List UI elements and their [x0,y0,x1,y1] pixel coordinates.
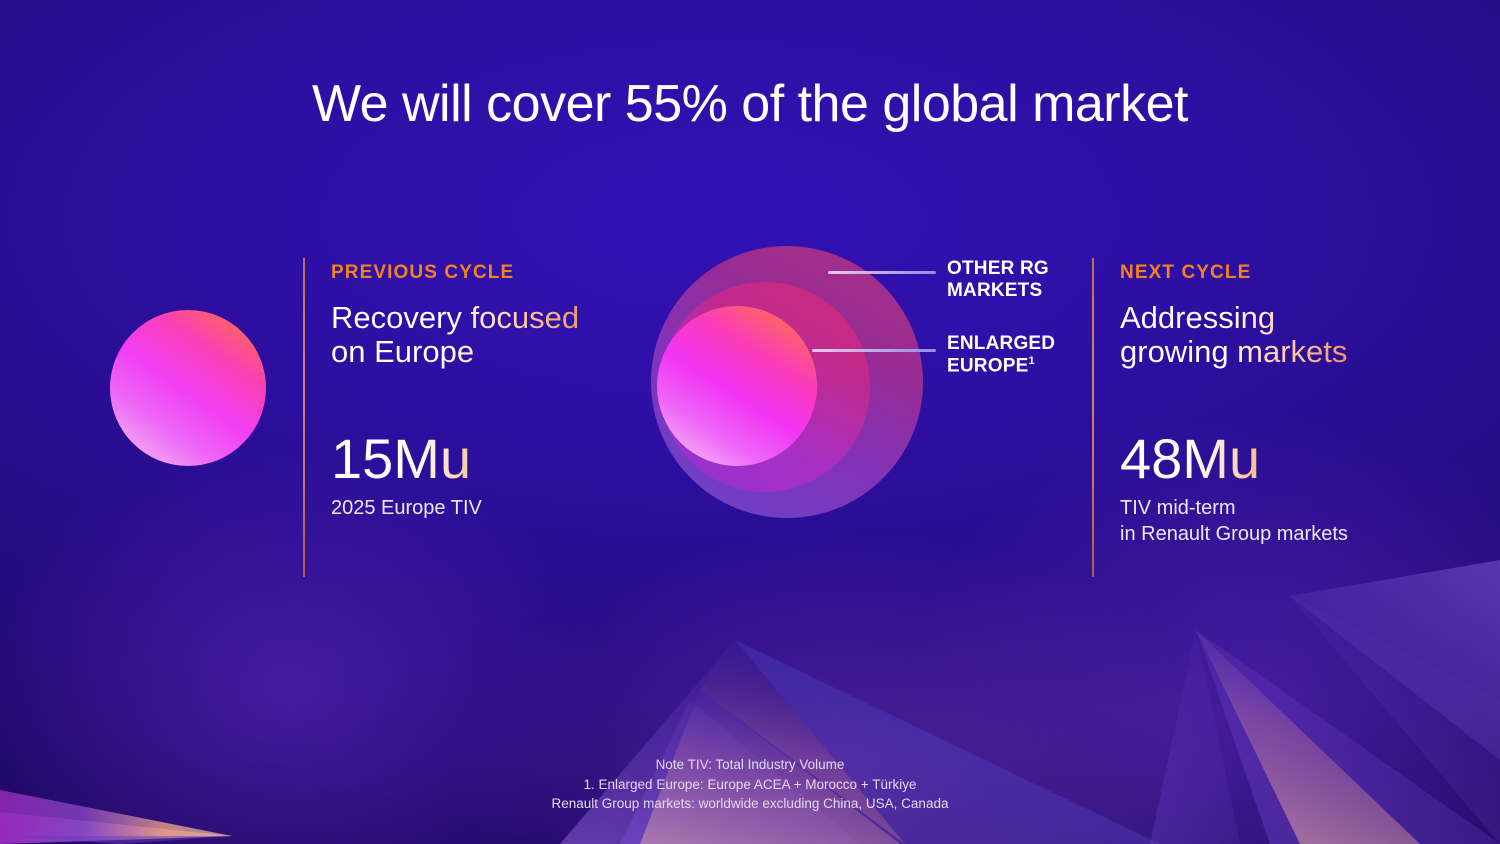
label-enlarged-europe-line1: ENLARGED [947,333,1055,355]
next-cycle-value: 48Mu [1120,431,1348,487]
footnotes: Note TIV: Total Industry Volume 1. Enlar… [0,755,1500,814]
leader-line-enlarged-europe [812,349,936,352]
previous-cycle-value: 15Mu [331,431,579,487]
footnote-0: Note TIV: Total Industry Volume [0,755,1500,775]
slide-canvas: We will cover 55% of the global market O… [0,0,1500,844]
previous-cycle-value-caption: 2025 Europe TIV [331,496,579,522]
footnote-2: Renault Group markets: worldwide excludi… [0,794,1500,814]
label-enlarged-europe-line2: EUROPE1 [947,355,1055,378]
label-enlarged-europe: ENLARGED EUROPE1 [947,333,1055,378]
next-cycle-headline: Addressing growing markets [1120,301,1348,369]
next-cycle-eyebrow: NEXT CYCLE [1120,262,1348,284]
label-enlarged-europe-text: EUROPE [947,356,1028,377]
footnote-1: 1. Enlarged Europe: Europe ACEA + Morocc… [0,775,1500,795]
column-next-cycle: NEXT CYCLE Addressing growing markets 48… [1092,258,1348,547]
market-circles-diagram [651,246,923,518]
label-other-rg-markets: OTHER RG MARKETS [947,258,1049,303]
previous-cycle-headline: Recovery focused on Europe [331,301,579,369]
page-title: We will cover 55% of the global market [0,74,1500,134]
previous-cycle-eyebrow: PREVIOUS CYCLE [331,262,579,284]
next-cycle-value-caption: TIV mid-term in Renault Group markets [1120,496,1348,547]
circle-enlarged-europe [657,306,817,466]
column-previous-cycle: PREVIOUS CYCLE Recovery focused on Europ… [303,258,579,522]
leader-line-other-rg [828,271,936,274]
previous-cycle-sphere [110,310,266,466]
footnote-marker: 1 [1028,355,1034,367]
